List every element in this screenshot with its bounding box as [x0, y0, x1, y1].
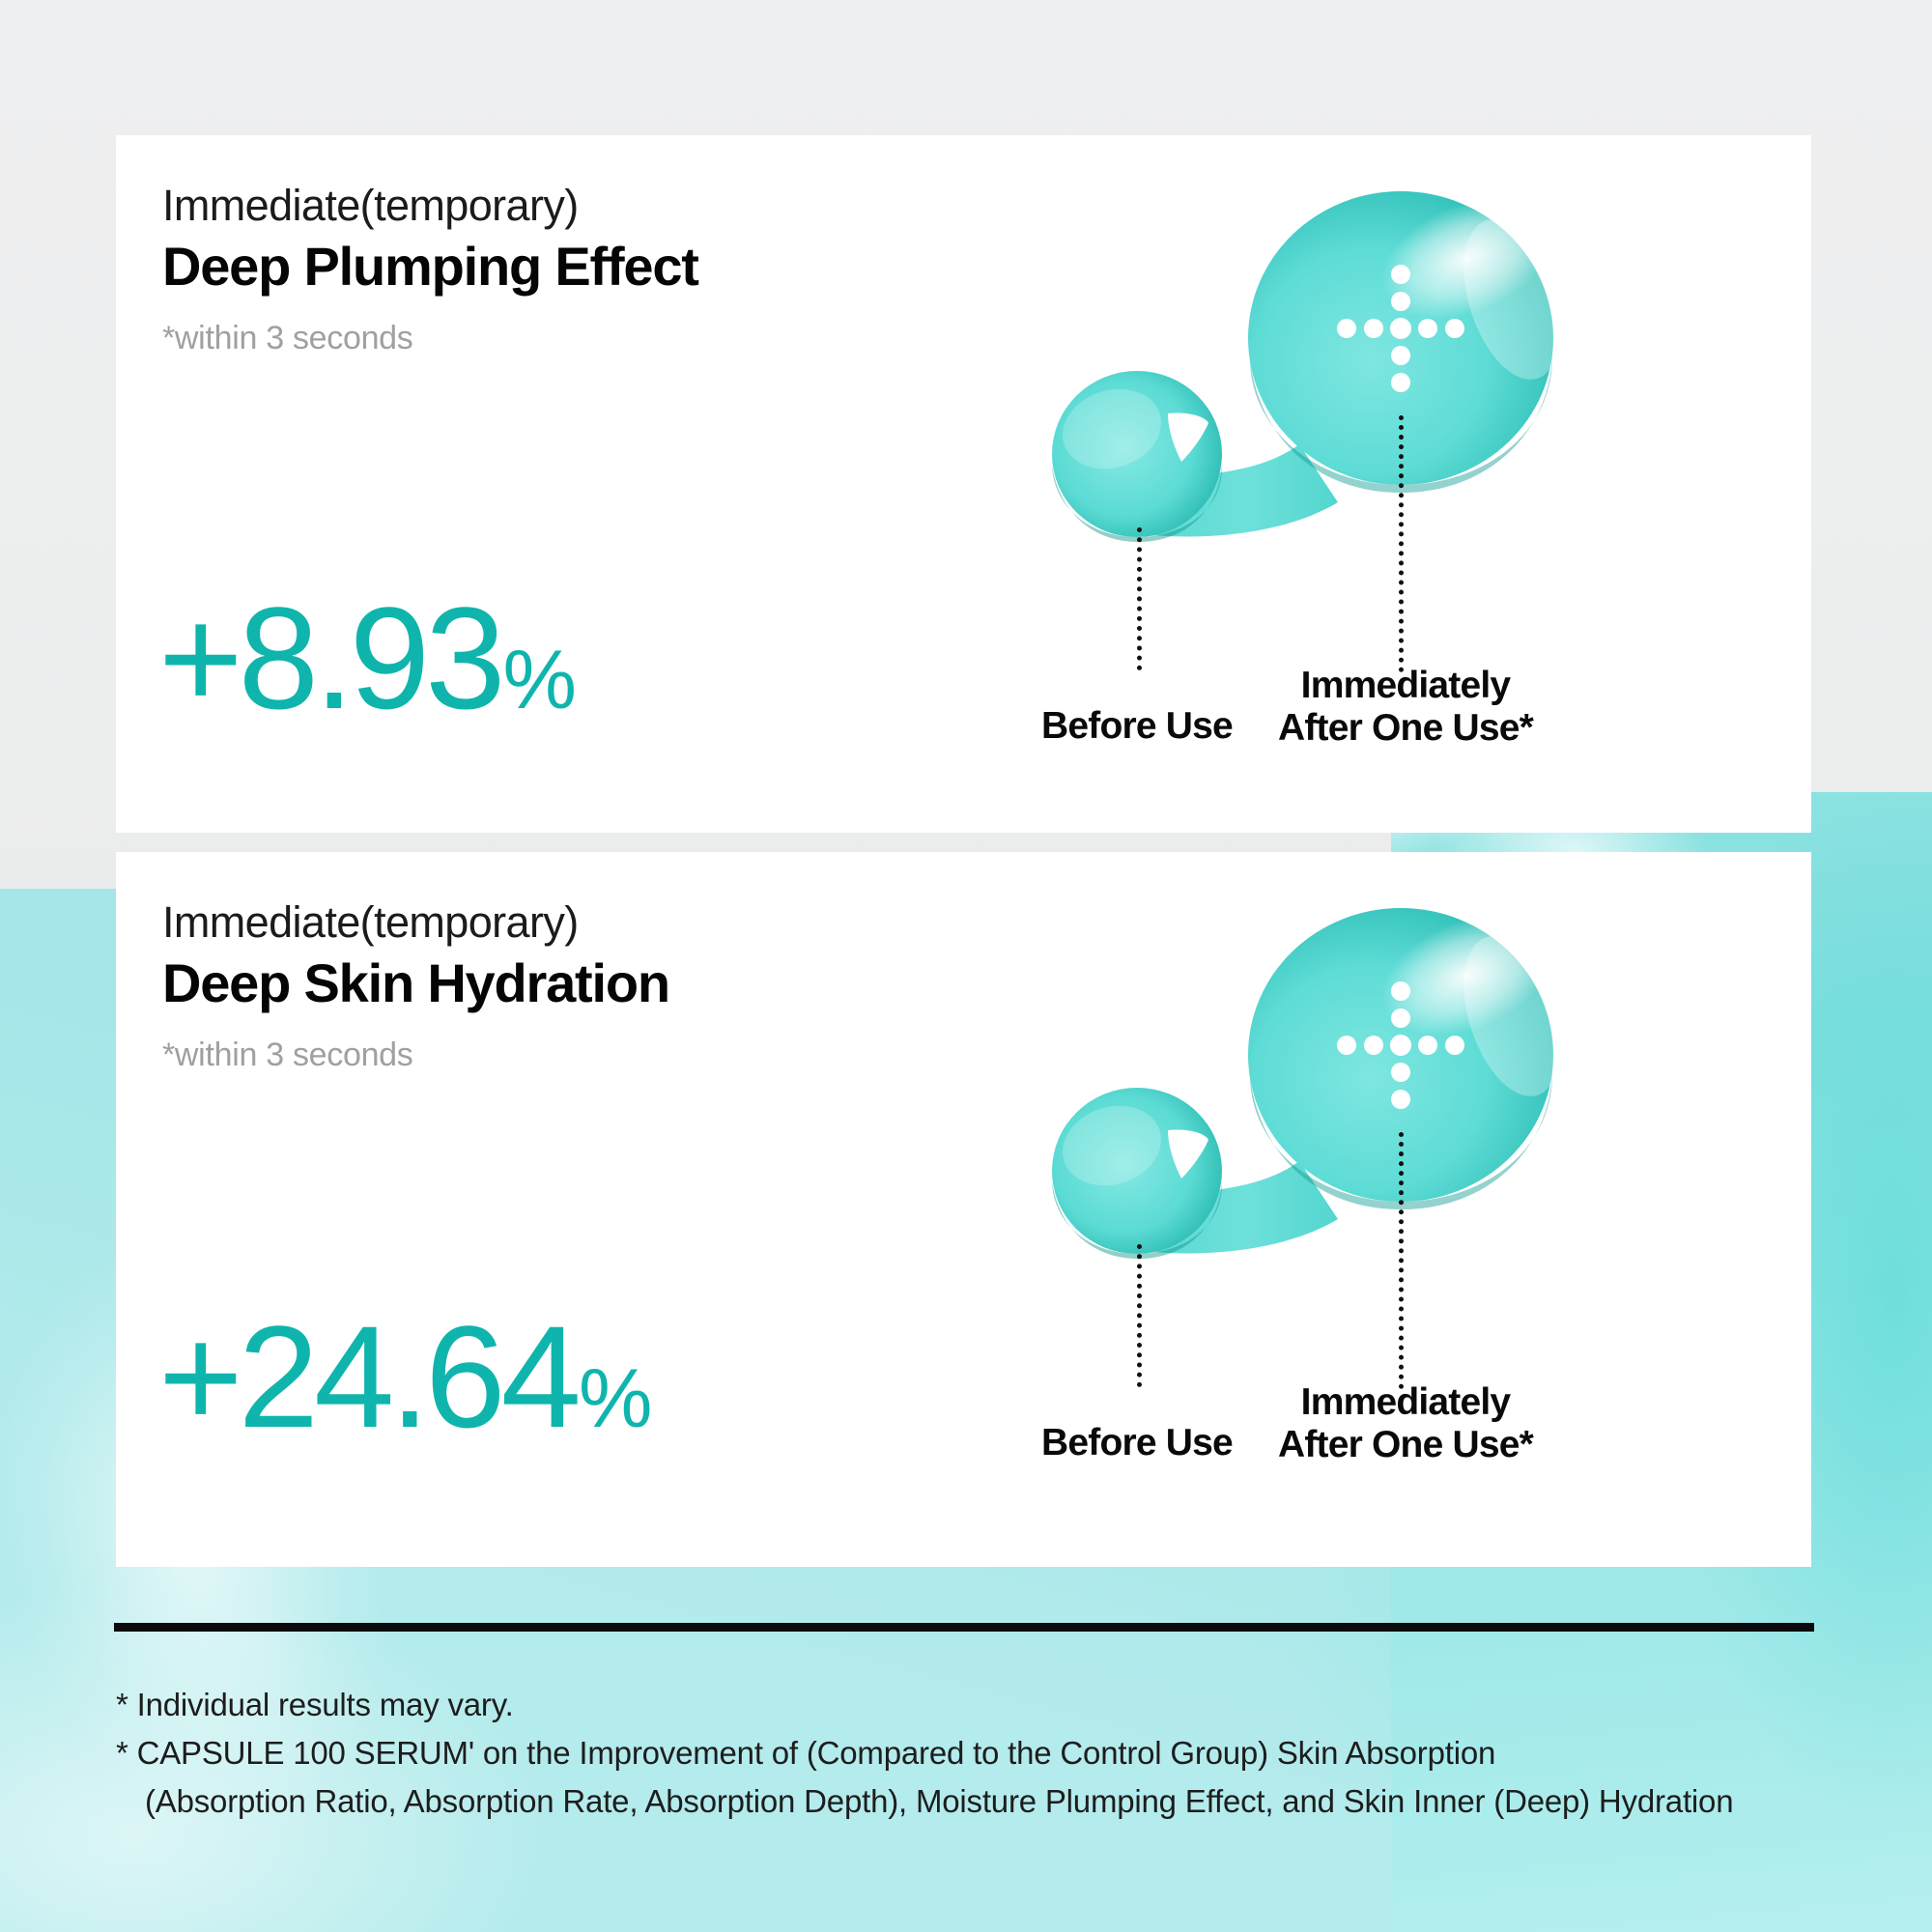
- stat-unit: %: [579, 1357, 650, 1440]
- figure-labels: Before Use Immediately After One Use*: [845, 1374, 1773, 1499]
- droplet-figure: Before Use Immediately After One Use*: [845, 871, 1773, 1509]
- stat-card-hydration: Immediate(temporary) Deep Skin Hydration…: [116, 852, 1811, 1567]
- figure-labels: Before Use Immediately After One Use*: [845, 657, 1773, 782]
- leader-line-after: [1399, 415, 1404, 672]
- leader-line-before: [1137, 1244, 1142, 1387]
- card-text-block: Immediate(temporary) Deep Plumping Effec…: [162, 180, 698, 357]
- droplet-figure: Before Use Immediately After One Use*: [845, 155, 1773, 792]
- label-after-line1: Immediately: [1278, 665, 1533, 707]
- label-after-use: Immediately After One Use*: [1278, 1381, 1533, 1465]
- card-text-block: Immediate(temporary) Deep Skin Hydration…: [162, 896, 669, 1074]
- leader-line-after: [1399, 1132, 1404, 1389]
- stat-readout: +24.64 %: [158, 1304, 650, 1449]
- label-before-use: Before Use: [1041, 705, 1233, 748]
- footer-divider: [114, 1623, 1814, 1632]
- label-after-line1: Immediately: [1278, 1381, 1533, 1424]
- label-before-use: Before Use: [1041, 1422, 1233, 1464]
- card-subnote: *within 3 seconds: [162, 320, 698, 357]
- footnote-line-3: (Absorption Ratio, Absorption Rate, Abso…: [116, 1777, 1855, 1826]
- serum-droplet-illustration: [845, 871, 1773, 1393]
- leader-line-before: [1137, 527, 1142, 670]
- card-headline: Deep Skin Hydration: [162, 952, 669, 1015]
- footnotes: * Individual results may vary. * CAPSULE…: [116, 1681, 1855, 1826]
- label-after-line2: After One Use*: [1278, 707, 1533, 750]
- serum-droplet-illustration: [845, 155, 1773, 676]
- stat-card-plumping: Immediate(temporary) Deep Plumping Effec…: [116, 135, 1811, 833]
- footnote-line-1: * Individual results may vary.: [116, 1681, 1855, 1729]
- card-eyebrow: Immediate(temporary): [162, 180, 698, 231]
- stat-value: +24.64: [158, 1304, 577, 1449]
- label-after-use: Immediately After One Use*: [1278, 665, 1533, 749]
- card-subnote: *within 3 seconds: [162, 1037, 669, 1074]
- card-headline: Deep Plumping Effect: [162, 235, 698, 298]
- infographic-page: Immediate(temporary) Deep Plumping Effec…: [0, 0, 1932, 1932]
- card-eyebrow: Immediate(temporary): [162, 896, 669, 948]
- label-after-line2: After One Use*: [1278, 1424, 1533, 1466]
- stat-unit: %: [503, 639, 575, 722]
- stat-value: +8.93: [158, 585, 501, 730]
- stat-readout: +8.93 %: [158, 585, 575, 730]
- footnote-line-2: * CAPSULE 100 SERUM' on the Improvement …: [116, 1729, 1855, 1777]
